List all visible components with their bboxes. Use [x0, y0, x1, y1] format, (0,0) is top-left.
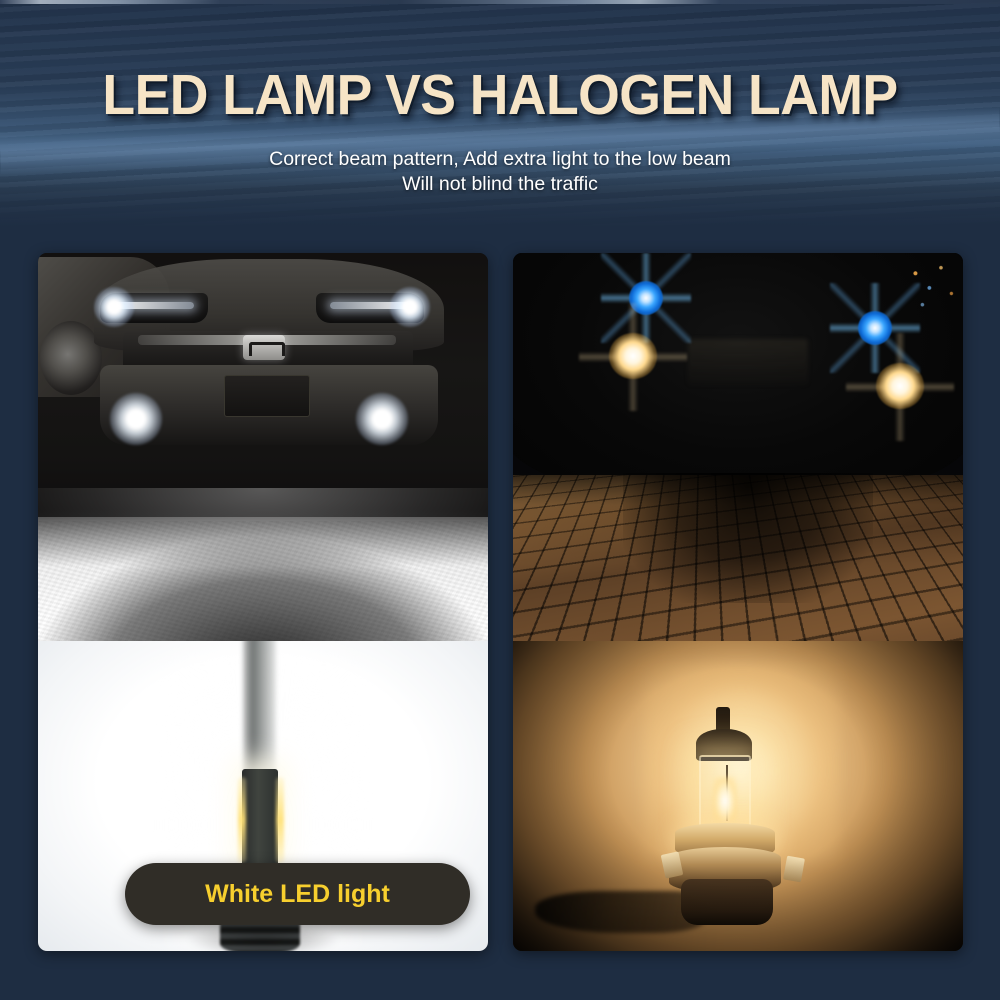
- led-emitter-right: [276, 777, 284, 863]
- led-night-scene: [38, 253, 488, 641]
- license-plate: [688, 339, 808, 385]
- distant-city-lights: [905, 261, 963, 317]
- photo-vignette: [513, 641, 963, 951]
- subtitle-line-1: Correct beam pattern, Add extra light to…: [269, 148, 731, 170]
- page-title: LED LAMP VS HALOGEN LAMP: [30, 62, 970, 128]
- halogen-headlight-right: [876, 363, 924, 409]
- unlit-ground-shadow: [623, 473, 873, 603]
- led-bulb-shaft: [243, 641, 276, 783]
- led-bulb-shadow: [188, 923, 338, 951]
- halogen-bulb-photo: [513, 641, 963, 951]
- led-label-badge[interactable]: White LED light: [125, 863, 470, 925]
- led-comparison-panel[interactable]: White LED light: [38, 253, 488, 951]
- led-chip-body: [242, 769, 278, 867]
- headlight-glow: [94, 287, 134, 327]
- right-fog-light: [356, 393, 408, 445]
- halogen-headlight-left: [609, 333, 657, 379]
- honda-emblem-icon: [243, 335, 285, 360]
- halogen-comparison-panel[interactable]: yellow halogen lamp: [513, 253, 963, 951]
- left-fog-light: [110, 393, 162, 445]
- halogen-headlight-photo: [513, 253, 963, 641]
- halogen-bulb-scene: [513, 641, 963, 951]
- product-comparison-page: LED LAMP VS HALOGEN LAMP Correct beam pa…: [0, 0, 1000, 1000]
- headlight-glow: [390, 287, 430, 327]
- left-headlight: [100, 293, 208, 323]
- halogen-night-scene: [513, 253, 963, 641]
- page-subtitle: Correct beam pattern, Add extra light to…: [0, 147, 1000, 197]
- right-headlight: [316, 293, 424, 323]
- top-edge-strip: [0, 0, 1000, 4]
- license-plate: [224, 375, 310, 417]
- led-label-text: White LED light: [205, 880, 390, 909]
- parked-car-wheel: [40, 321, 102, 395]
- subtitle-line-2: Will not blind the traffic: [0, 172, 1000, 197]
- asphalt-texture: [38, 521, 488, 641]
- led-emitter-left: [238, 777, 246, 863]
- led-headlight-photo: [38, 253, 488, 641]
